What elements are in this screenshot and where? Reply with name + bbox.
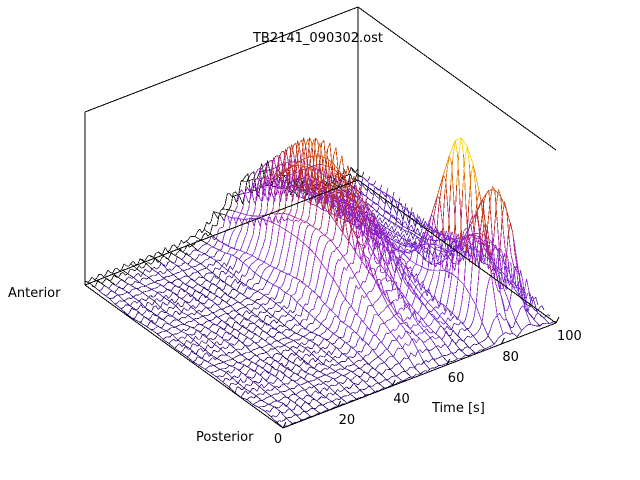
plot-title: TB2141_090302.ost — [252, 31, 383, 46]
posterior-axis-label: Posterior — [196, 430, 254, 445]
time-tick-label: 0 — [274, 432, 282, 447]
anterior-axis-label: Anterior — [8, 286, 61, 301]
time-tick-label: 80 — [502, 350, 519, 365]
time-tick-label: 20 — [339, 413, 356, 428]
time-tick-label: 40 — [393, 392, 410, 407]
time-tick-label: 100 — [557, 329, 582, 344]
time-tick-label: 60 — [448, 371, 465, 386]
figure-background — [0, 0, 640, 480]
time-axis-label: Time [s] — [431, 401, 485, 416]
manometry-3d-mesh-figure: TB2141_090302.ost Anterior Posterior Tim… — [0, 0, 640, 480]
